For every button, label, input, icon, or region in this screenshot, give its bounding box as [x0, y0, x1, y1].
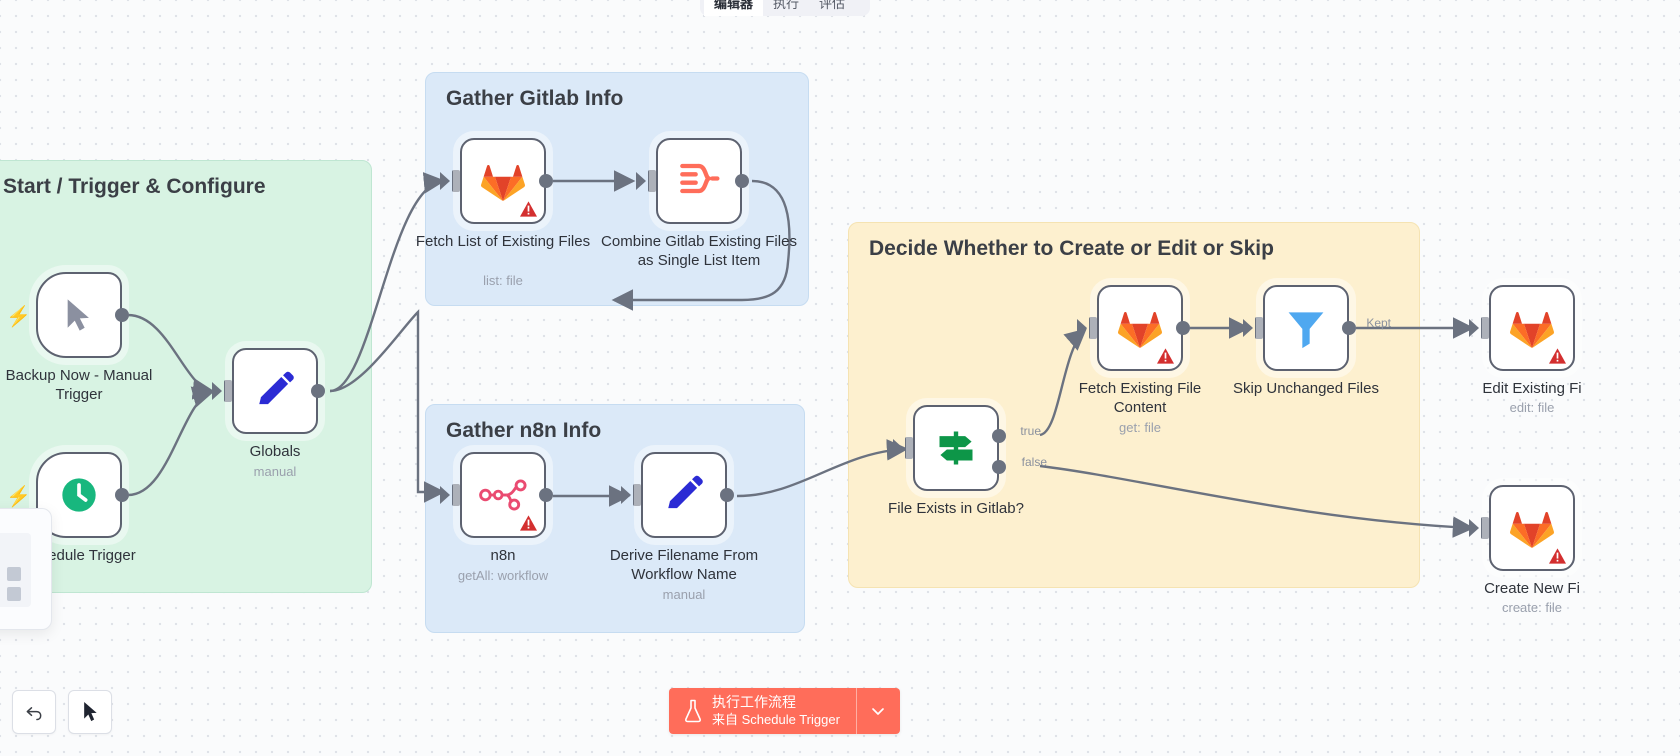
node-backup-now-manual-trigger[interactable]: ⚡ Backup Now - Manual Trigger	[36, 272, 122, 358]
input-endpoint[interactable]	[1481, 517, 1489, 539]
node-label: Fetch List of Existing Files	[413, 232, 593, 251]
flask-icon	[683, 699, 703, 723]
edge-label-true: true	[1020, 424, 1041, 438]
node-box[interactable]	[1097, 285, 1183, 371]
node-sublabel: get: file	[1040, 420, 1240, 435]
top-tab-bar: 编辑器 执行 评估	[700, 0, 870, 16]
node-sublabel: list: file	[403, 273, 603, 288]
execute-workflow-button[interactable]: 执行工作流程 来自 Schedule Trigger	[669, 688, 856, 734]
execute-dropdown-button[interactable]	[856, 688, 900, 734]
node-label: Fetch Existing File Content	[1055, 379, 1225, 417]
undo-icon	[24, 702, 44, 722]
node-globals[interactable]: Globals manual	[232, 348, 318, 434]
pencil-icon	[663, 474, 705, 516]
group-title: Start / Trigger & Configure	[3, 175, 266, 199]
input-arrow-icon	[621, 486, 631, 504]
output-endpoint-false[interactable]	[992, 460, 1006, 474]
execute-label-line1: 执行工作流程	[712, 694, 840, 711]
workflow-canvas[interactable]: 编辑器 执行 评估 Start / Trigger & Configure Ga…	[0, 0, 1680, 756]
node-label: Edit Existing Fi	[1437, 379, 1627, 398]
gitlab-icon	[1509, 506, 1555, 550]
input-endpoint[interactable]	[224, 380, 232, 402]
node-create-new-file[interactable]: Create New Fi create: file	[1489, 485, 1575, 571]
node-box[interactable]	[1489, 485, 1575, 571]
signpost-icon	[933, 426, 979, 470]
group-title: Decide Whether to Create or Edit or Skip	[869, 237, 1274, 261]
node-label: File Exists in Gitlab?	[846, 499, 1066, 518]
node-label: Derive Filename From Workflow Name	[589, 546, 779, 584]
lightning-icon: ⚡	[6, 484, 31, 509]
output-endpoint[interactable]	[735, 174, 749, 188]
filter-icon	[1284, 306, 1328, 350]
node-label: Combine Gitlab Existing Files as Single …	[594, 232, 804, 270]
warning-icon[interactable]	[520, 201, 537, 217]
node-box[interactable]	[1489, 285, 1575, 371]
node-label: n8n	[413, 546, 593, 565]
output-endpoint[interactable]	[115, 488, 129, 502]
output-endpoint-true[interactable]	[992, 429, 1006, 443]
node-label: Globals	[185, 442, 365, 461]
chevron-down-icon	[870, 703, 886, 719]
node-combine-gitlab-existing-files[interactable]: Combine Gitlab Existing Files as Single …	[656, 138, 742, 224]
node-sublabel: create: file	[1432, 600, 1632, 615]
tab-evaluations[interactable]: 评估	[809, 0, 855, 16]
node-skip-unchanged-files[interactable]: Kept Skip Unchanged Files	[1263, 285, 1349, 371]
output-endpoint[interactable]	[720, 488, 734, 502]
node-box[interactable]	[460, 138, 546, 224]
node-box[interactable]	[36, 272, 122, 358]
edge-label-false: false	[1022, 455, 1047, 469]
node-box[interactable]	[232, 348, 318, 434]
output-endpoint[interactable]	[311, 384, 325, 398]
input-endpoint[interactable]	[905, 437, 913, 459]
input-arrow-icon	[1469, 319, 1479, 337]
input-arrow-icon	[440, 172, 450, 190]
input-arrow-icon	[1243, 319, 1253, 337]
cursor-pin-icon	[80, 701, 100, 723]
node-fetch-existing-file-content[interactable]: Fetch Existing File Content get: file	[1097, 285, 1183, 371]
input-arrow-icon	[1469, 519, 1479, 537]
aggregate-icon	[677, 161, 721, 201]
warning-icon[interactable]	[520, 515, 537, 531]
input-endpoint[interactable]	[1089, 317, 1097, 339]
input-endpoint[interactable]	[1481, 317, 1489, 339]
gitlab-icon	[1117, 306, 1163, 350]
node-derive-filename-from-workflow-name[interactable]: Derive Filename From Workflow Name manua…	[641, 452, 727, 538]
input-endpoint[interactable]	[648, 170, 656, 192]
gitlab-icon	[1509, 306, 1555, 350]
node-label: Skip Unchanged Files	[1201, 379, 1411, 398]
clock-icon	[59, 475, 99, 515]
output-endpoint[interactable]	[115, 308, 129, 322]
node-file-exists-in-gitlab[interactable]: true false File Exists in Gitlab?	[913, 405, 999, 491]
warning-icon[interactable]	[1157, 348, 1174, 364]
input-endpoint[interactable]	[1255, 317, 1263, 339]
node-box[interactable]	[641, 452, 727, 538]
output-endpoint[interactable]	[539, 488, 553, 502]
input-endpoint[interactable]	[452, 484, 460, 506]
output-endpoint[interactable]	[539, 174, 553, 188]
pointer-tool-button[interactable]	[68, 690, 112, 734]
node-sublabel: edit: file	[1432, 400, 1632, 415]
tab-executions[interactable]: 执行	[763, 0, 809, 16]
input-arrow-icon	[893, 439, 903, 457]
lightning-icon: ⚡	[6, 304, 31, 329]
side-panel-tile	[7, 587, 21, 601]
side-panel-tile	[7, 567, 21, 581]
gitlab-icon	[480, 159, 526, 203]
input-arrow-icon	[440, 486, 450, 504]
warning-icon[interactable]	[1549, 348, 1566, 364]
node-fetch-list-of-existing-files[interactable]: Fetch List of Existing Files list: file	[460, 138, 546, 224]
group-title: Gather Gitlab Info	[446, 87, 623, 111]
edge-label-kept: Kept	[1366, 316, 1391, 330]
execute-workflow-control[interactable]: 执行工作流程 来自 Schedule Trigger	[669, 688, 900, 734]
canvas-side-panel[interactable]	[0, 508, 52, 630]
output-endpoint[interactable]	[1176, 321, 1190, 335]
node-box[interactable]	[1263, 285, 1349, 371]
input-endpoint[interactable]	[633, 484, 641, 506]
node-sublabel: manual	[175, 464, 375, 479]
output-endpoint[interactable]	[1342, 321, 1356, 335]
group-title: Gather n8n Info	[446, 419, 601, 443]
node-n8n[interactable]: n8n getAll: workflow	[460, 452, 546, 538]
cursor-icon	[62, 296, 96, 334]
input-endpoint[interactable]	[452, 170, 460, 192]
pencil-icon	[254, 370, 296, 412]
execute-label-line2: 来自 Schedule Trigger	[712, 711, 840, 728]
node-label: Backup Now - Manual Trigger	[0, 366, 169, 404]
tab-editor[interactable]: 编辑器	[704, 0, 763, 16]
input-arrow-icon	[212, 382, 222, 400]
node-label: Create New Fi	[1437, 579, 1627, 598]
node-sublabel: manual	[584, 587, 784, 602]
undo-button[interactable]	[12, 690, 56, 734]
node-edit-existing-file[interactable]: Edit Existing Fi edit: file	[1489, 285, 1575, 371]
node-box[interactable]	[656, 138, 742, 224]
input-arrow-icon	[636, 172, 646, 190]
warning-icon[interactable]	[1549, 548, 1566, 564]
node-box[interactable]	[460, 452, 546, 538]
node-box[interactable]	[913, 405, 999, 491]
n8n-icon	[479, 478, 527, 512]
node-sublabel: getAll: workflow	[403, 568, 603, 583]
input-arrow-icon	[1077, 319, 1087, 337]
